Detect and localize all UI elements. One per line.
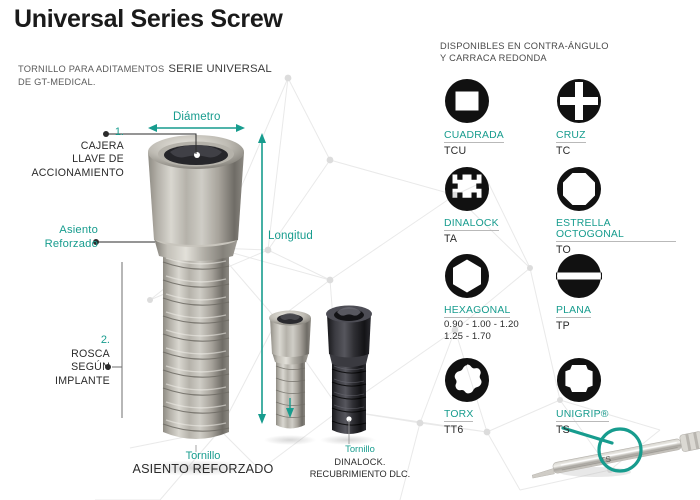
drive-type-hexagonal-sizes: 0.90 - 1.00 - 1.201.25 - 1.70 xyxy=(444,319,564,342)
caption-right-line-1: Tornillo xyxy=(300,443,420,456)
subtitle-line-1: TORNILLO PARA ADITAMENTOS xyxy=(18,64,164,74)
drive-type-cruz-code: TC xyxy=(556,145,676,157)
availability-line-2: Y CARRACA REDONDA xyxy=(440,52,609,64)
drive-type-dinalock[interactable]: DINALOCK TA xyxy=(444,166,564,245)
drive-type-torx[interactable]: TORX TT6 xyxy=(444,357,564,436)
drive-type-plana[interactable]: PLANA TP xyxy=(556,253,676,332)
drive-type-hexagonal[interactable]: HEXAGONAL 0.90 - 1.00 - 1.201.25 - 1.70 xyxy=(444,253,564,342)
callout-rosca: 2. ROSCA SEGÚN IMPLANTE xyxy=(6,334,110,388)
callout-asiento-line-2: Reforzado xyxy=(6,238,98,252)
drive-type-hexagonal-name: HEXAGONAL xyxy=(444,305,510,318)
page-title: Universal Series Screw xyxy=(14,5,283,34)
drive-type-plana-code: TP xyxy=(556,320,676,332)
drive-type-cuadrada-name: CUADRADA xyxy=(444,130,504,143)
drive-type-torx-name: TORX xyxy=(444,409,473,422)
callout-rosca-line-2: SEGÚN xyxy=(6,361,110,375)
callout-cajera-line-1: CAJERA xyxy=(6,140,124,154)
octagon-drive-icon xyxy=(556,166,602,212)
leader-rosca xyxy=(112,262,122,418)
infographic-canvas: Universal Series Screw TORNILLO PARA ADI… xyxy=(0,0,700,500)
subtitle-emphasis: SERIE UNIVERSAL xyxy=(168,63,271,75)
callout-rosca-number: 2. xyxy=(6,334,110,348)
square-drive-icon xyxy=(444,78,490,124)
callout-asiento-line-1: Asiento xyxy=(6,224,98,238)
callout-rosca-line-3: IMPLANTE xyxy=(6,375,110,389)
subtitle-line-2: DE GT-MEDICAL. xyxy=(18,76,272,89)
caption-right-line-2: DINALOCK. xyxy=(300,456,420,469)
caption-left-line-1: Tornillo xyxy=(108,450,298,463)
callout-cajera-line-2: LLAVE DE xyxy=(6,153,124,167)
caption-screw-reinforced-seat: Tornillo ASIENTO REFORZADO xyxy=(108,450,298,475)
diameter-label: Diámetro xyxy=(173,111,220,123)
drive-type-dinalock-name: DINALOCK xyxy=(444,218,499,231)
callout-cajera: 1. CAJERA LLAVE DE ACCIONAMIENTO xyxy=(6,126,124,180)
hex-drive-icon xyxy=(444,253,490,299)
drive-type-estrella-name: ESTRELLA OCTOGONAL xyxy=(556,218,676,242)
main-screw-graphic xyxy=(136,135,256,476)
drive-type-dinalock-code: TA xyxy=(444,233,564,245)
length-label: Longitud xyxy=(268,230,313,242)
drive-type-cuadrada[interactable]: CUADRADA TCU xyxy=(444,78,564,157)
cross-drive-icon xyxy=(556,78,602,124)
unigrip-drive-icon xyxy=(556,357,602,403)
drive-type-plana-name: PLANA xyxy=(556,305,591,318)
drive-type-torx-code: TT6 xyxy=(444,424,564,436)
dinalock-drive-icon xyxy=(444,166,490,212)
drive-type-cuadrada-code: TCU xyxy=(444,145,564,157)
drive-type-unigrip[interactable]: UNIGRIP® TS xyxy=(556,357,676,436)
caption-left-line-2: ASIENTO REFORZADO xyxy=(108,463,298,476)
caption-screw-dinalock: Tornillo DINALOCK. RECUBRIMIENTO DLC. xyxy=(300,443,420,481)
availability-line-1: DISPONIBLES EN CONTRA-ÁNGULO xyxy=(440,40,609,52)
drive-type-unigrip-code: TS xyxy=(556,424,676,436)
availability-note: DISPONIBLES EN CONTRA-ÁNGULO Y CARRACA R… xyxy=(440,40,609,64)
callout-cajera-line-3: ACCIONAMIENTO xyxy=(6,167,124,181)
callout-rosca-line-1: ROSCA xyxy=(6,348,110,362)
flat-drive-icon xyxy=(556,253,602,299)
drive-type-cruz-name: CRUZ xyxy=(556,130,586,143)
callout-cajera-number: 1. xyxy=(6,126,124,140)
drive-type-cruz[interactable]: CRUZ TC xyxy=(556,78,676,157)
torx-drive-icon xyxy=(444,357,490,403)
caption-right-line-3: RECUBRIMIENTO DLC. xyxy=(300,468,420,481)
small-dlc-screw-graphic xyxy=(320,306,376,446)
drive-type-unigrip-name: UNIGRIP® xyxy=(556,409,609,422)
callout-asiento: Asiento Reforzado xyxy=(6,224,98,251)
small-steel-screw-graphic xyxy=(264,311,316,446)
drive-type-estrella-octogonal[interactable]: ESTRELLA OCTOGONAL TO xyxy=(556,166,676,256)
subtitle-block: TORNILLO PARA ADITAMENTOSSERIE UNIVERSAL… xyxy=(18,62,272,88)
svg-text:TS: TS xyxy=(600,454,612,465)
